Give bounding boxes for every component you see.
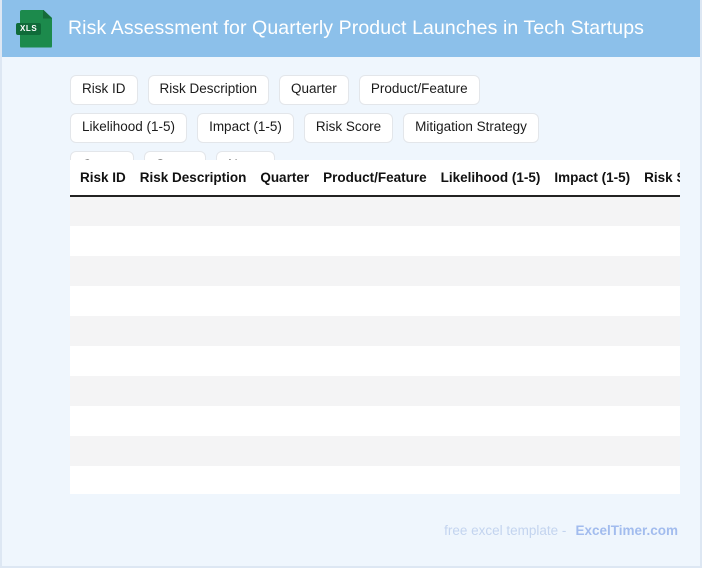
table-cell[interactable] — [441, 406, 555, 436]
table-cell[interactable] — [554, 256, 644, 286]
table-cell[interactable] — [260, 466, 323, 494]
table-cell[interactable] — [441, 316, 555, 346]
table-row[interactable] — [70, 256, 680, 286]
chip-risk-score[interactable]: Risk Score — [304, 113, 393, 143]
table-cell[interactable] — [441, 256, 555, 286]
table-cell[interactable] — [323, 436, 441, 466]
chip-impact[interactable]: Impact (1-5) — [197, 113, 294, 143]
table-cell[interactable] — [554, 316, 644, 346]
table-cell[interactable] — [441, 226, 555, 256]
table-cell[interactable] — [441, 436, 555, 466]
table-cell[interactable] — [554, 286, 644, 316]
table-cell[interactable] — [70, 406, 140, 436]
table-cell[interactable] — [140, 226, 261, 256]
table-row[interactable] — [70, 316, 680, 346]
column-header-risk-id[interactable]: Risk ID — [70, 160, 140, 196]
chip-risk-id[interactable]: Risk ID — [70, 75, 138, 105]
table-row[interactable] — [70, 436, 680, 466]
table-cell[interactable] — [644, 286, 680, 316]
table-cell[interactable] — [554, 406, 644, 436]
table-header: Risk ID Risk Description Quarter Product… — [70, 160, 680, 196]
table-cell[interactable] — [441, 466, 555, 494]
table-cell[interactable] — [323, 466, 441, 494]
table-cell[interactable] — [441, 346, 555, 376]
column-header-likelihood[interactable]: Likelihood (1-5) — [441, 160, 555, 196]
table-cell[interactable] — [260, 346, 323, 376]
chip-quarter[interactable]: Quarter — [279, 75, 349, 105]
table-cell[interactable] — [70, 316, 140, 346]
table-cell[interactable] — [644, 346, 680, 376]
table-cell[interactable] — [140, 286, 261, 316]
page-container: XLS Risk Assessment for Quarterly Produc… — [0, 0, 702, 568]
table-cell[interactable] — [323, 316, 441, 346]
app-header: XLS Risk Assessment for Quarterly Produc… — [2, 0, 700, 57]
footer-attribution: free excel template - ExcelTimer.com — [444, 523, 678, 538]
table-cell[interactable] — [644, 376, 680, 406]
xls-file-icon: XLS — [20, 10, 52, 48]
table-cell[interactable] — [441, 196, 555, 226]
table-cell[interactable] — [644, 196, 680, 226]
chip-risk-description[interactable]: Risk Description — [148, 75, 270, 105]
table-cell[interactable] — [70, 376, 140, 406]
data-table-inner: Risk ID Risk Description Quarter Product… — [70, 160, 680, 494]
table-cell[interactable] — [554, 226, 644, 256]
table-cell[interactable] — [323, 256, 441, 286]
chip-likelihood[interactable]: Likelihood (1-5) — [70, 113, 187, 143]
table-cell[interactable] — [323, 346, 441, 376]
table-cell[interactable] — [260, 286, 323, 316]
table-cell[interactable] — [644, 436, 680, 466]
table-cell[interactable] — [323, 196, 441, 226]
table-row[interactable] — [70, 226, 680, 256]
table-cell[interactable] — [644, 226, 680, 256]
table-cell[interactable] — [140, 436, 261, 466]
column-header-risk-score[interactable]: Risk Score — [644, 160, 680, 196]
table-cell[interactable] — [260, 436, 323, 466]
table-body — [70, 196, 680, 494]
table-cell[interactable] — [260, 226, 323, 256]
page-title: Risk Assessment for Quarterly Product La… — [68, 17, 644, 40]
table-cell[interactable] — [140, 256, 261, 286]
chip-mitigation-strategy[interactable]: Mitigation Strategy — [403, 113, 539, 143]
column-header-risk-description[interactable]: Risk Description — [140, 160, 261, 196]
table-row[interactable] — [70, 466, 680, 494]
table-cell[interactable] — [140, 406, 261, 436]
table-row[interactable] — [70, 406, 680, 436]
chip-product-feature[interactable]: Product/Feature — [359, 75, 480, 105]
table-cell[interactable] — [323, 226, 441, 256]
table-cell[interactable] — [140, 316, 261, 346]
table-cell[interactable] — [554, 376, 644, 406]
table-cell[interactable] — [260, 256, 323, 286]
table-cell[interactable] — [644, 316, 680, 346]
table-row[interactable] — [70, 376, 680, 406]
table-cell[interactable] — [554, 466, 644, 494]
table-cell[interactable] — [70, 196, 140, 226]
table-cell[interactable] — [70, 286, 140, 316]
table-row[interactable] — [70, 196, 680, 226]
table-cell[interactable] — [644, 406, 680, 436]
table-cell[interactable] — [441, 286, 555, 316]
column-header-impact[interactable]: Impact (1-5) — [554, 160, 644, 196]
table-cell[interactable] — [140, 466, 261, 494]
table-cell[interactable] — [323, 286, 441, 316]
table-cell[interactable] — [140, 376, 261, 406]
table-row[interactable] — [70, 346, 680, 376]
table-cell[interactable] — [554, 436, 644, 466]
xls-badge-label: XLS — [16, 23, 41, 35]
table-cell[interactable] — [70, 256, 140, 286]
column-header-product-feature[interactable]: Product/Feature — [323, 160, 441, 196]
table-cell[interactable] — [644, 466, 680, 494]
table-cell[interactable] — [70, 226, 140, 256]
table-cell[interactable] — [70, 436, 140, 466]
table-cell[interactable] — [260, 316, 323, 346]
table-cell[interactable] — [441, 376, 555, 406]
table-cell[interactable] — [140, 196, 261, 226]
table-cell[interactable] — [323, 376, 441, 406]
table-cell[interactable] — [260, 376, 323, 406]
table-cell[interactable] — [644, 256, 680, 286]
table-cell[interactable] — [323, 406, 441, 436]
table-cell[interactable] — [70, 346, 140, 376]
table-cell[interactable] — [260, 196, 323, 226]
footer-text: free excel template - — [444, 523, 566, 538]
footer-brand[interactable]: ExcelTimer.com — [575, 523, 678, 538]
table-cell[interactable] — [554, 196, 644, 226]
table-header-row: Risk ID Risk Description Quarter Product… — [70, 160, 680, 196]
table-cell[interactable] — [260, 406, 323, 436]
data-table-container[interactable]: Risk ID Risk Description Quarter Product… — [70, 160, 680, 494]
table-cell[interactable] — [554, 346, 644, 376]
table-cell[interactable] — [70, 466, 140, 494]
table-row[interactable] — [70, 286, 680, 316]
data-table: Risk ID Risk Description Quarter Product… — [70, 160, 680, 494]
column-header-quarter[interactable]: Quarter — [260, 160, 323, 196]
table-cell[interactable] — [140, 346, 261, 376]
